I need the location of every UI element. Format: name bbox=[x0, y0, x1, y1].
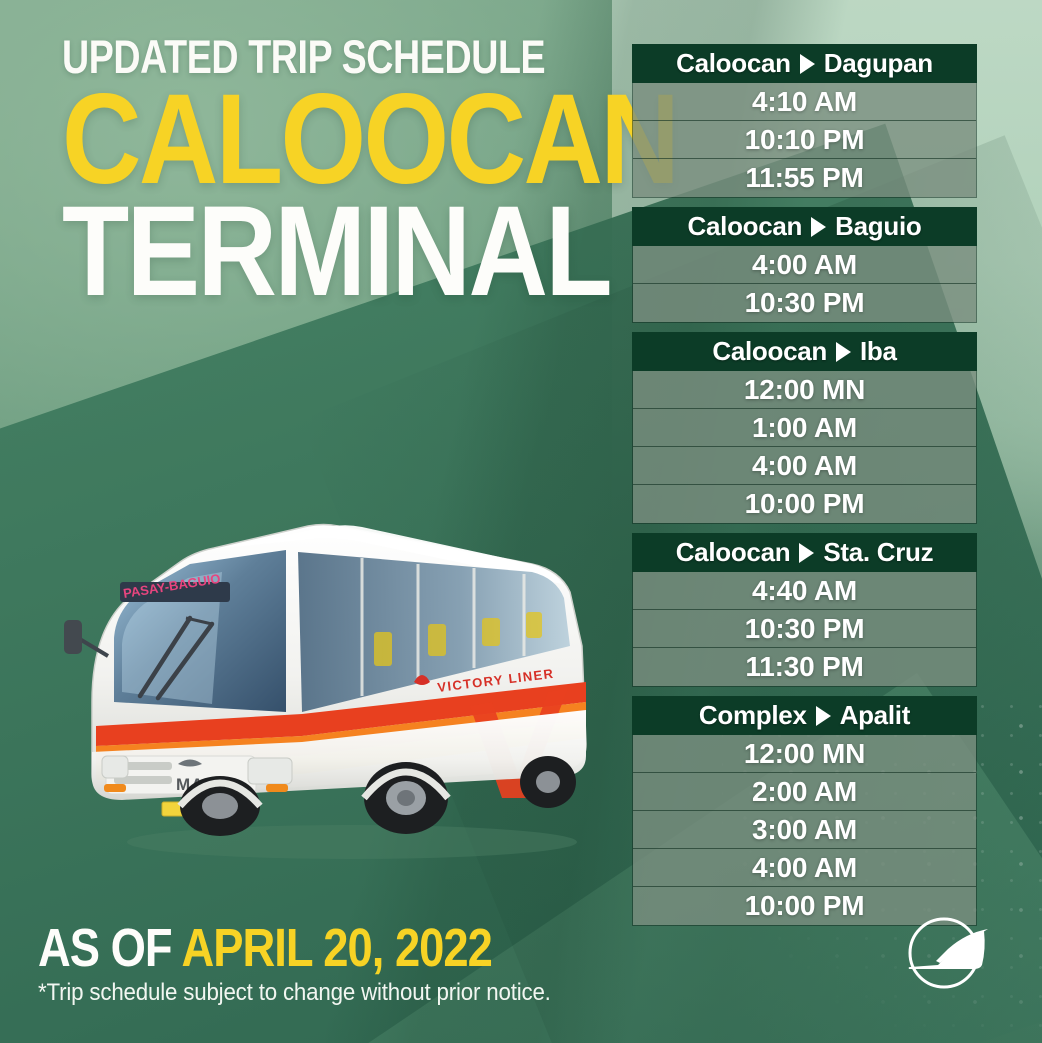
departure-time-list: 12:00 MN2:00 AM3:00 AM4:00 AM10:00 PM bbox=[632, 735, 977, 926]
bus-photo: PASAY-BAGUIO bbox=[62, 506, 632, 878]
schedule-group: CaloocanIba12:00 MN1:00 AM4:00 AM10:00 P… bbox=[632, 332, 977, 524]
route-header: CaloocanDagupan bbox=[632, 44, 977, 83]
as-of-line: AS OF APRIL 20, 2022 bbox=[38, 921, 525, 975]
departure-time-row: 4:10 AM bbox=[633, 83, 976, 121]
disclaimer-text: *Trip schedule subject to change without… bbox=[38, 979, 577, 1007]
departure-time-row: 11:30 PM bbox=[633, 648, 976, 686]
departure-time-row: 12:00 MN bbox=[633, 735, 976, 773]
route-header: ComplexApalit bbox=[632, 696, 977, 735]
as-of-block: AS OF APRIL 20, 2022 *Trip schedule subj… bbox=[38, 921, 618, 1007]
departure-time-row: 1:00 AM bbox=[633, 409, 976, 447]
route-destination: Dagupan bbox=[824, 48, 933, 79]
departure-time-row: 4:00 AM bbox=[633, 246, 976, 284]
play-triangle-icon bbox=[836, 342, 851, 362]
departure-time-row: 4:00 AM bbox=[633, 447, 976, 485]
departure-time-list: 12:00 MN1:00 AM4:00 AM10:00 PM bbox=[632, 371, 977, 524]
route-origin: Caloocan bbox=[676, 537, 791, 568]
headline-block: UPDATED TRIP SCHEDULE CALOOCAN TERMINAL bbox=[62, 34, 622, 307]
departure-time-row: 10:10 PM bbox=[633, 121, 976, 159]
play-triangle-icon bbox=[811, 217, 826, 237]
departure-time-row: 10:30 PM bbox=[633, 284, 976, 322]
play-triangle-icon bbox=[799, 543, 814, 563]
route-origin: Caloocan bbox=[688, 211, 803, 242]
schedule-table: CaloocanDagupan4:10 AM10:10 PM11:55 PMCa… bbox=[632, 44, 977, 926]
departure-time-row: 11:55 PM bbox=[633, 159, 976, 197]
route-header: CaloocanSta. Cruz bbox=[632, 533, 977, 572]
schedule-group: ComplexApalit12:00 MN2:00 AM3:00 AM4:00 … bbox=[632, 696, 977, 926]
route-destination: Sta. Cruz bbox=[823, 537, 933, 568]
as-of-date: APRIL 20, 2022 bbox=[181, 918, 491, 978]
route-origin: Complex bbox=[699, 700, 807, 731]
route-destination: Iba bbox=[860, 336, 897, 367]
route-origin: Caloocan bbox=[676, 48, 791, 79]
schedule-group: CaloocanDagupan4:10 AM10:10 PM11:55 PM bbox=[632, 44, 977, 198]
play-triangle-icon bbox=[800, 54, 815, 74]
title-line-one: CALOOCAN bbox=[62, 85, 544, 195]
victory-liner-logo bbox=[896, 905, 992, 1001]
departure-time-row: 2:00 AM bbox=[633, 773, 976, 811]
departure-time-row: 12:00 MN bbox=[633, 371, 976, 409]
departure-time-list: 4:10 AM10:10 PM11:55 PM bbox=[632, 83, 977, 198]
route-header: CaloocanBaguio bbox=[632, 207, 977, 246]
departure-time-list: 4:40 AM10:30 PM11:30 PM bbox=[632, 572, 977, 687]
departure-time-row: 4:40 AM bbox=[633, 572, 976, 610]
route-destination: Apalit bbox=[840, 700, 910, 731]
route-origin: Caloocan bbox=[712, 336, 827, 367]
departure-time-row: 10:30 PM bbox=[633, 610, 976, 648]
departure-time-row: 10:00 PM bbox=[633, 485, 976, 523]
schedule-group: CaloocanBaguio4:00 AM10:30 PM bbox=[632, 207, 977, 323]
schedule-group: CaloocanSta. Cruz4:40 AM10:30 PM11:30 PM bbox=[632, 533, 977, 687]
departure-time-list: 4:00 AM10:30 PM bbox=[632, 246, 977, 323]
route-header: CaloocanIba bbox=[632, 332, 977, 371]
play-triangle-icon bbox=[816, 706, 831, 726]
departure-time-row: 3:00 AM bbox=[633, 811, 976, 849]
title-line-two: TERMINAL bbox=[62, 197, 544, 307]
departure-time-row: 4:00 AM bbox=[633, 849, 976, 887]
as-of-prefix: AS OF bbox=[38, 918, 172, 978]
route-destination: Baguio bbox=[835, 211, 921, 242]
